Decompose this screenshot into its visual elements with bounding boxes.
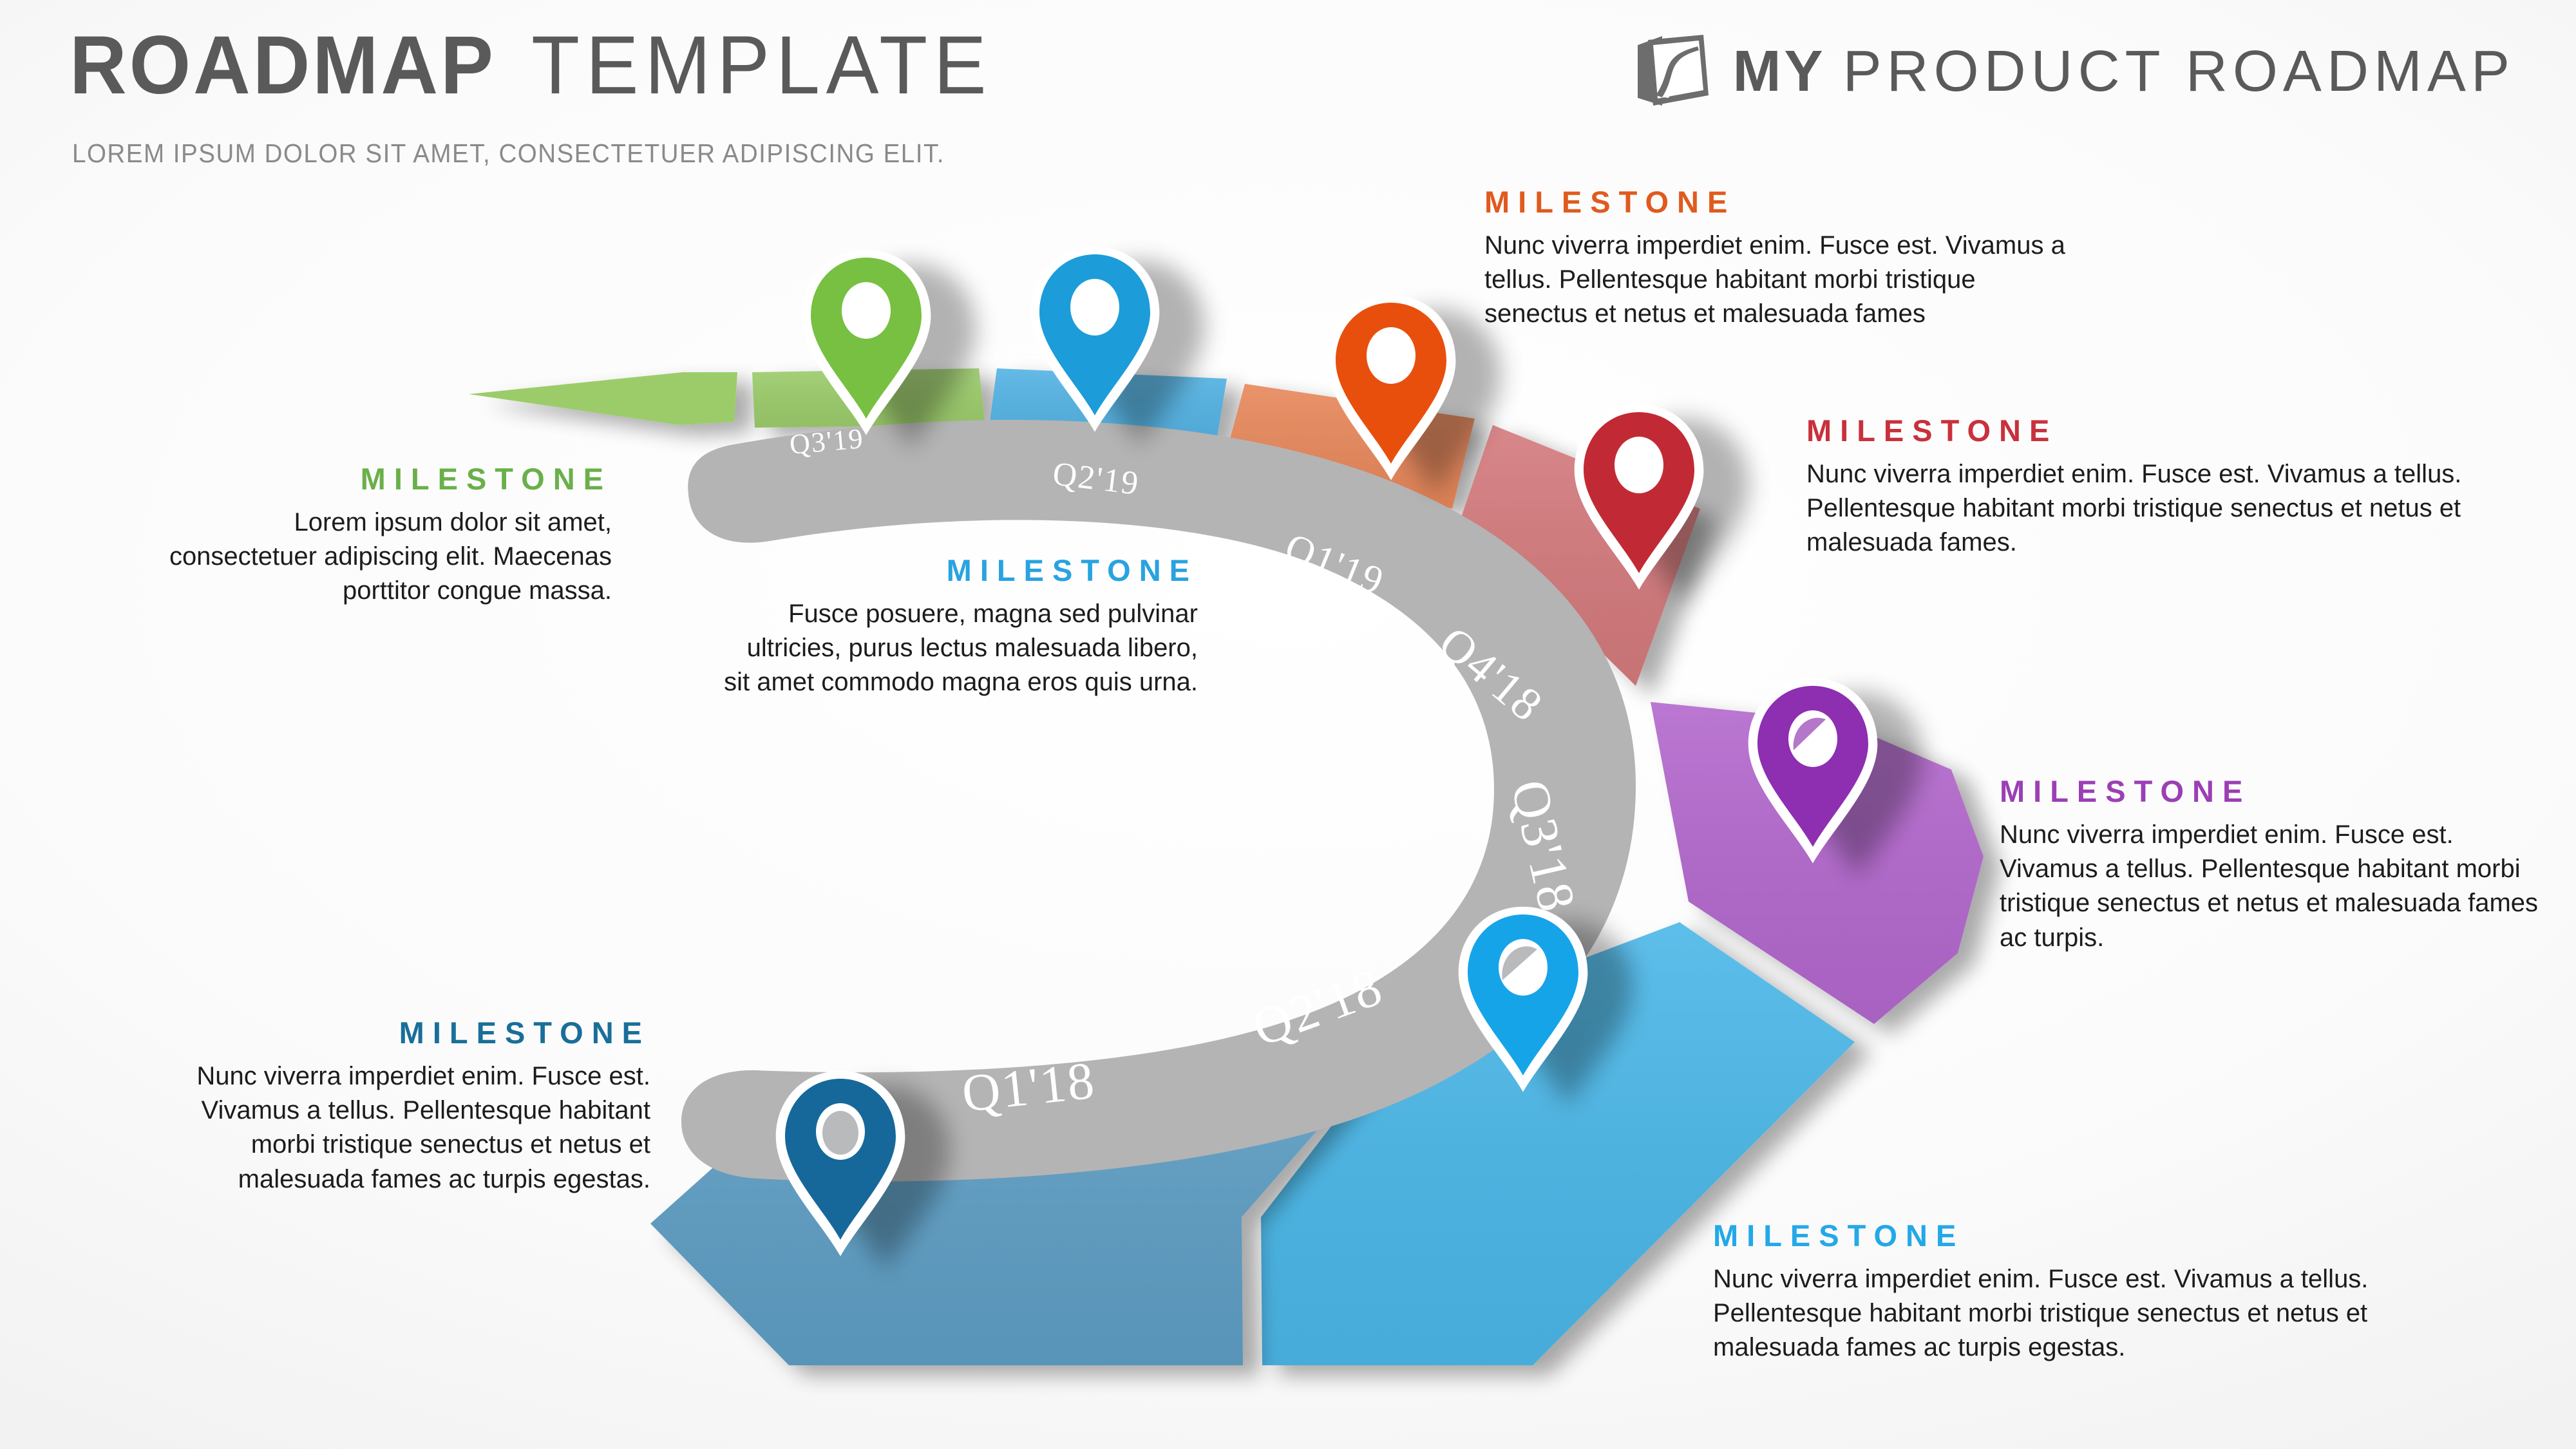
milestone-block-blue: MILESTONE Nunc viverra imperdiet enim. F… (1713, 1220, 2396, 1365)
milestone-block-orange: MILESTONE Nunc viverra imperdiet enim. F… (1484, 187, 2077, 332)
milestone-block-dkblue: MILESTONE Nunc viverra imperdiet enim. F… (148, 1018, 650, 1197)
milestone-block-red: MILESTONE Nunc viverra imperdiet enim. F… (1806, 415, 2508, 560)
milestone-title-purple: MILESTONE (2000, 776, 2553, 806)
milestone-body-orange: Nunc viverra imperdiet enim. Fusce est. … (1484, 229, 2077, 332)
milestone-body-dkblue: Nunc viverra imperdiet enim. Fusce est. … (148, 1059, 650, 1197)
milestone-body-red: Nunc viverra imperdiet enim. Fusce est. … (1806, 457, 2508, 560)
milestone-block-green: MILESTONE Lorem ipsum dolor sit amet, co… (148, 464, 612, 609)
milestone-title-orange: MILESTONE (1484, 187, 2077, 217)
milestone-body-ltblue: Fusce posuere, magna sed pulvinar ultric… (721, 597, 1198, 700)
milestone-title-red: MILESTONE (1806, 415, 2508, 446)
milestone-title-blue: MILESTONE (1713, 1220, 2396, 1251)
segment-green-tail (469, 372, 737, 425)
milestone-body-blue: Nunc viverra imperdiet enim. Fusce est. … (1713, 1262, 2396, 1365)
milestone-block-purple: MILESTONE Nunc viverra imperdiet enim. F… (2000, 776, 2553, 955)
milestone-body-purple: Nunc viverra imperdiet enim. Fusce est. … (2000, 818, 2553, 955)
milestone-body-green: Lorem ipsum dolor sit amet, consectetuer… (148, 506, 612, 609)
milestone-block-ltblue: MILESTONE Fusce posuere, magna sed pulvi… (721, 555, 1198, 700)
milestone-title-green: MILESTONE (148, 464, 612, 494)
roadmap-slide: ROADMAP TEMPLATE LOREM IPSUM DOLOR SIT A… (0, 0, 2576, 1449)
milestone-title-dkblue: MILESTONE (148, 1018, 650, 1048)
quarter-label-q3-19: Q3'19 (788, 422, 866, 460)
milestone-title-ltblue: MILESTONE (721, 555, 1198, 585)
